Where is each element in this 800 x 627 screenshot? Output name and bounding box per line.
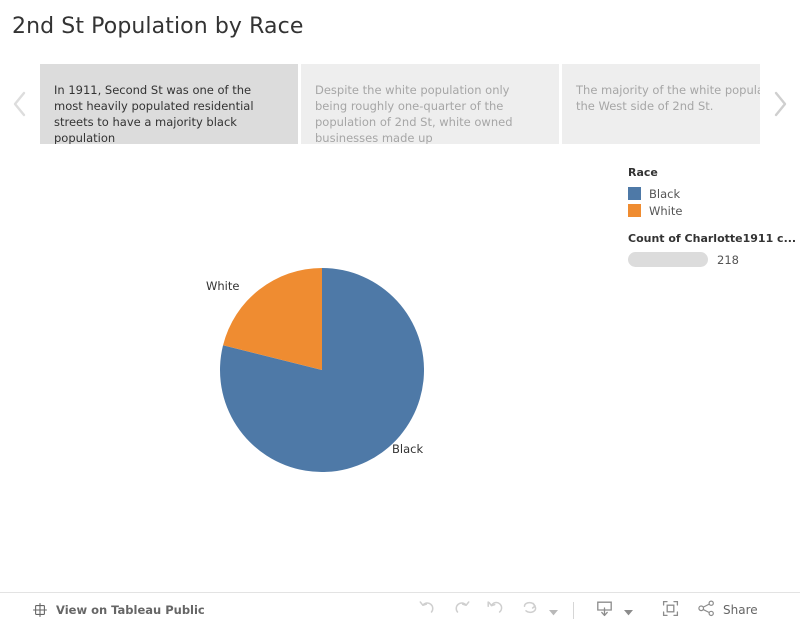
toolbar-controls: Share xyxy=(410,596,758,624)
color-legend-title: Race xyxy=(628,166,788,179)
fullscreen-button[interactable] xyxy=(653,596,687,624)
size-legend-control: 218 xyxy=(628,252,798,267)
legend-item-label: White xyxy=(649,204,682,218)
story-point-text: The majority of the white populat on the… xyxy=(576,83,760,113)
story-next-button[interactable] xyxy=(760,64,800,144)
share-button[interactable]: Share xyxy=(697,599,758,622)
chevron-right-icon xyxy=(771,89,789,119)
undo-button[interactable] xyxy=(410,596,444,624)
share-icon xyxy=(697,599,716,622)
redo-icon xyxy=(452,599,471,622)
size-legend: Count of Charlotte1911 c... 218 xyxy=(628,232,798,267)
legend-item-black[interactable]: Black xyxy=(628,185,788,202)
fullscreen-icon xyxy=(661,599,680,622)
chevron-left-icon xyxy=(11,89,29,119)
refresh-dropdown-button[interactable] xyxy=(546,596,560,624)
view-on-tableau-public-link[interactable]: View on Tableau Public xyxy=(32,602,205,618)
size-legend-value: 218 xyxy=(717,253,739,267)
view-on-tableau-public-label: View on Tableau Public xyxy=(56,603,205,617)
refresh-icon xyxy=(520,599,539,622)
download-icon xyxy=(595,599,614,622)
story-points-strip: In 1911, Second St was one of the most h… xyxy=(40,64,760,144)
story-point-text: Despite the white population only being … xyxy=(315,83,513,144)
legend-swatch-black xyxy=(628,187,641,200)
story-point-text: In 1911, Second St was one of the most h… xyxy=(54,83,254,144)
story-point-2[interactable]: Despite the white population only being … xyxy=(301,64,559,144)
pie-label-black: Black xyxy=(392,442,423,456)
download-button[interactable] xyxy=(587,596,621,624)
chevron-down-icon xyxy=(624,601,633,620)
chevron-down-icon xyxy=(549,601,558,620)
bottom-toolbar: View on Tableau Public xyxy=(0,592,800,627)
story-prev-button[interactable] xyxy=(0,64,40,144)
undo-icon xyxy=(418,599,437,622)
story-point-1[interactable]: In 1911, Second St was one of the most h… xyxy=(40,64,298,144)
size-legend-title: Count of Charlotte1911 c... xyxy=(628,232,798,245)
share-label: Share xyxy=(723,603,758,617)
story-point-3[interactable]: The majority of the white populat on the… xyxy=(562,64,760,144)
redo-button[interactable] xyxy=(444,596,478,624)
refresh-button[interactable] xyxy=(512,596,546,624)
size-legend-slider[interactable] xyxy=(628,252,708,267)
legend-item-label: Black xyxy=(649,187,680,201)
story-navigator: In 1911, Second St was one of the most h… xyxy=(0,64,800,144)
revert-icon xyxy=(486,599,505,622)
pie-label-white: White xyxy=(206,279,239,293)
viz-canvas: White Black Race Black White Count of Ch… xyxy=(0,148,800,593)
tableau-logo-icon xyxy=(32,602,48,618)
legend-item-white[interactable]: White xyxy=(628,202,788,219)
legend-swatch-white xyxy=(628,204,641,217)
revert-button[interactable] xyxy=(478,596,512,624)
pie-chart[interactable]: White Black xyxy=(220,268,424,472)
toolbar-divider xyxy=(573,602,574,619)
color-legend: Race Black White xyxy=(628,166,788,219)
page-title: 2nd St Population by Race xyxy=(12,14,303,39)
download-dropdown-button[interactable] xyxy=(621,596,635,624)
